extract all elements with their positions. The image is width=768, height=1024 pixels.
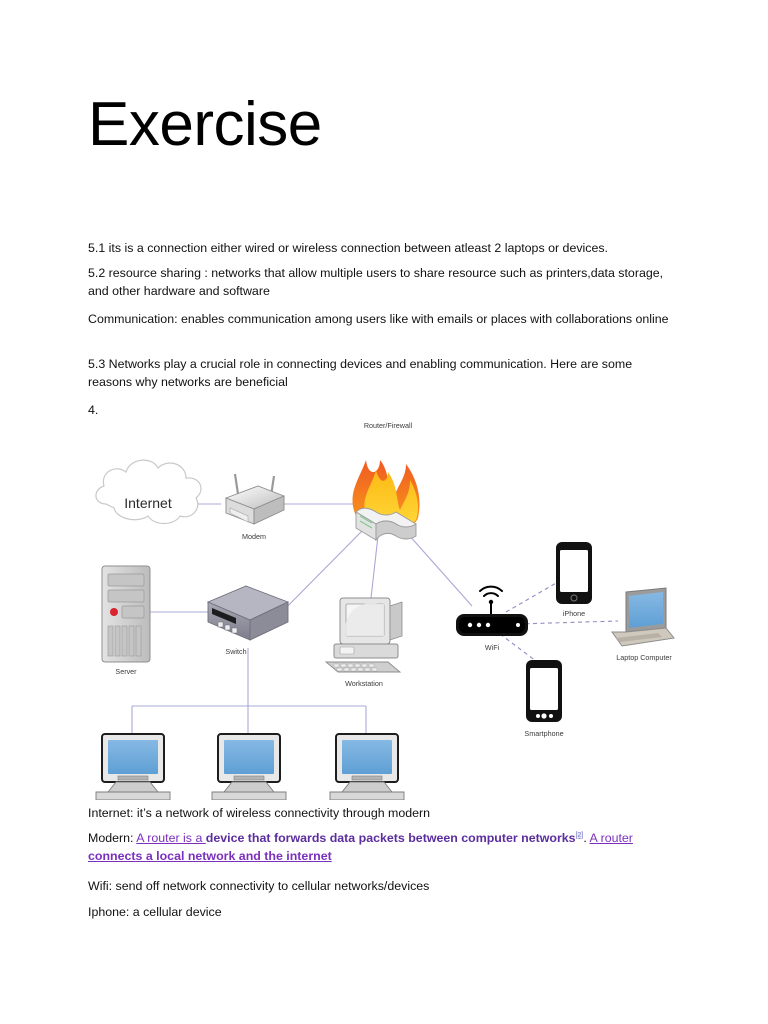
- node-label-router: Router/Firewall: [364, 421, 413, 430]
- caption-iphone: Iphone: a cellular device: [88, 904, 676, 922]
- router-link-part-2[interactable]: device that forwards data packets betwee…: [206, 831, 576, 845]
- node-server: Server: [102, 566, 150, 676]
- paragraph-5-3: 5.3 Networks play a crucial role in conn…: [88, 356, 676, 391]
- paragraph-communication: Communication: enables communication amo…: [88, 311, 676, 329]
- paragraph-5-1: 5.1 its is a connection either wired or …: [88, 240, 676, 258]
- node-switch: Switch: [208, 586, 288, 656]
- node-wifi-router: WiFi: [456, 587, 528, 652]
- node-label-modem: Modem: [242, 532, 266, 541]
- caption-internet: Internet: it’s a network of wireless con…: [88, 805, 676, 823]
- node-desktop-pc-1: Desktop PC: [96, 734, 170, 800]
- node-label-wifi: WiFi: [485, 643, 500, 652]
- caption-wifi: Wifi: send off network connectivity to c…: [88, 878, 676, 896]
- node-label-laptop: Laptop Computer: [616, 653, 672, 662]
- page-title: Exercise: [88, 94, 322, 156]
- node-label-workstation: Workstation: [345, 679, 383, 688]
- node-desktop-pc-3: Desktop PC: [330, 734, 404, 800]
- node-laptop: Laptop Computer: [612, 588, 674, 662]
- node-label-internet: Internet: [124, 495, 172, 511]
- node-modem: Modem: [226, 474, 284, 541]
- node-workstation: Workstation: [326, 598, 402, 688]
- router-link-part-3[interactable]: A router: [590, 831, 633, 845]
- router-link-part-4[interactable]: connects a local network and the interne…: [88, 849, 332, 863]
- node-label-smartphone: Smartphone: [524, 729, 563, 738]
- node-label-server: Server: [115, 667, 137, 676]
- wifi-signal-icon: [480, 587, 502, 605]
- network-topology-diagram: Internet Modem Router/Firewall: [88, 416, 688, 800]
- node-iphone: iPhone: [556, 542, 592, 618]
- caption-modern: Modern: A router is a device that forwar…: [88, 830, 676, 865]
- server-led-icon: [110, 608, 118, 616]
- node-smartphone: Smartphone: [524, 660, 563, 738]
- document-page: Exercise 5.1 its is a connection either …: [0, 0, 768, 1024]
- node-desktop-pc-2: Desktop PC: [212, 734, 286, 800]
- router-link-part-1[interactable]: A router is a: [136, 831, 206, 845]
- paragraph-5-2: 5.2 resource sharing : networks that all…: [88, 265, 676, 300]
- node-router-firewall: Router/Firewall: [353, 421, 420, 540]
- node-label-switch: Switch: [225, 647, 246, 656]
- node-internet: Internet: [96, 460, 201, 523]
- node-label-iphone: iPhone: [563, 609, 585, 618]
- modern-label: Modern:: [88, 831, 136, 845]
